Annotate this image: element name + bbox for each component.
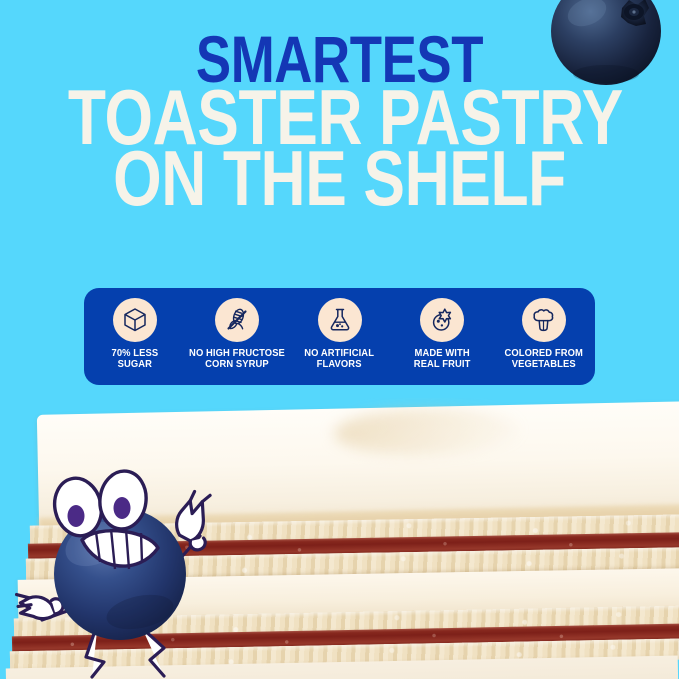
berry-star-icon [420,298,464,342]
broccoli-icon [522,298,566,342]
badge-no-artificial-flavors: NO ARTIFICIAL FLAVORS [288,288,390,370]
advertisement-canvas: SMARTEST TOASTER PASTRY ON THE SHELF 70%… [0,0,679,679]
badge-made-with-real-fruit: MADE WITH REAL FRUIT [391,288,493,370]
headline-block: SMARTEST TOASTER PASTRY ON THE SHELF [0,34,679,209]
badge-label: NO ARTIFICIAL FLAVORS [305,348,375,370]
badge-no-high-fructose-corn-syrup: NO HIGH FRUCTOSE CORN SYRUP [186,288,288,370]
flask-icon [318,298,362,342]
badge-label: COLORED FROM VEGETABLES [505,348,583,370]
sugar-cube-icon [113,298,157,342]
badge-less-sugar: 70% LESS SUGAR [84,288,186,370]
badge-label: MADE WITH REAL FRUIT [413,348,470,370]
badge-colored-from-vegetables: COLORED FROM VEGETABLES [493,288,595,370]
feature-badge-bar: 70% LESS SUGAR NO HIGH FRUCTOSE CORN SYR… [84,288,595,385]
headline-line-3: ON THE SHELF [68,148,611,209]
blueberry-mascot-character [12,452,240,679]
badge-label: NO HIGH FRUCTOSE CORN SYRUP [189,348,285,370]
no-corn-icon [215,298,259,342]
badge-label: 70% LESS SUGAR [112,348,159,370]
